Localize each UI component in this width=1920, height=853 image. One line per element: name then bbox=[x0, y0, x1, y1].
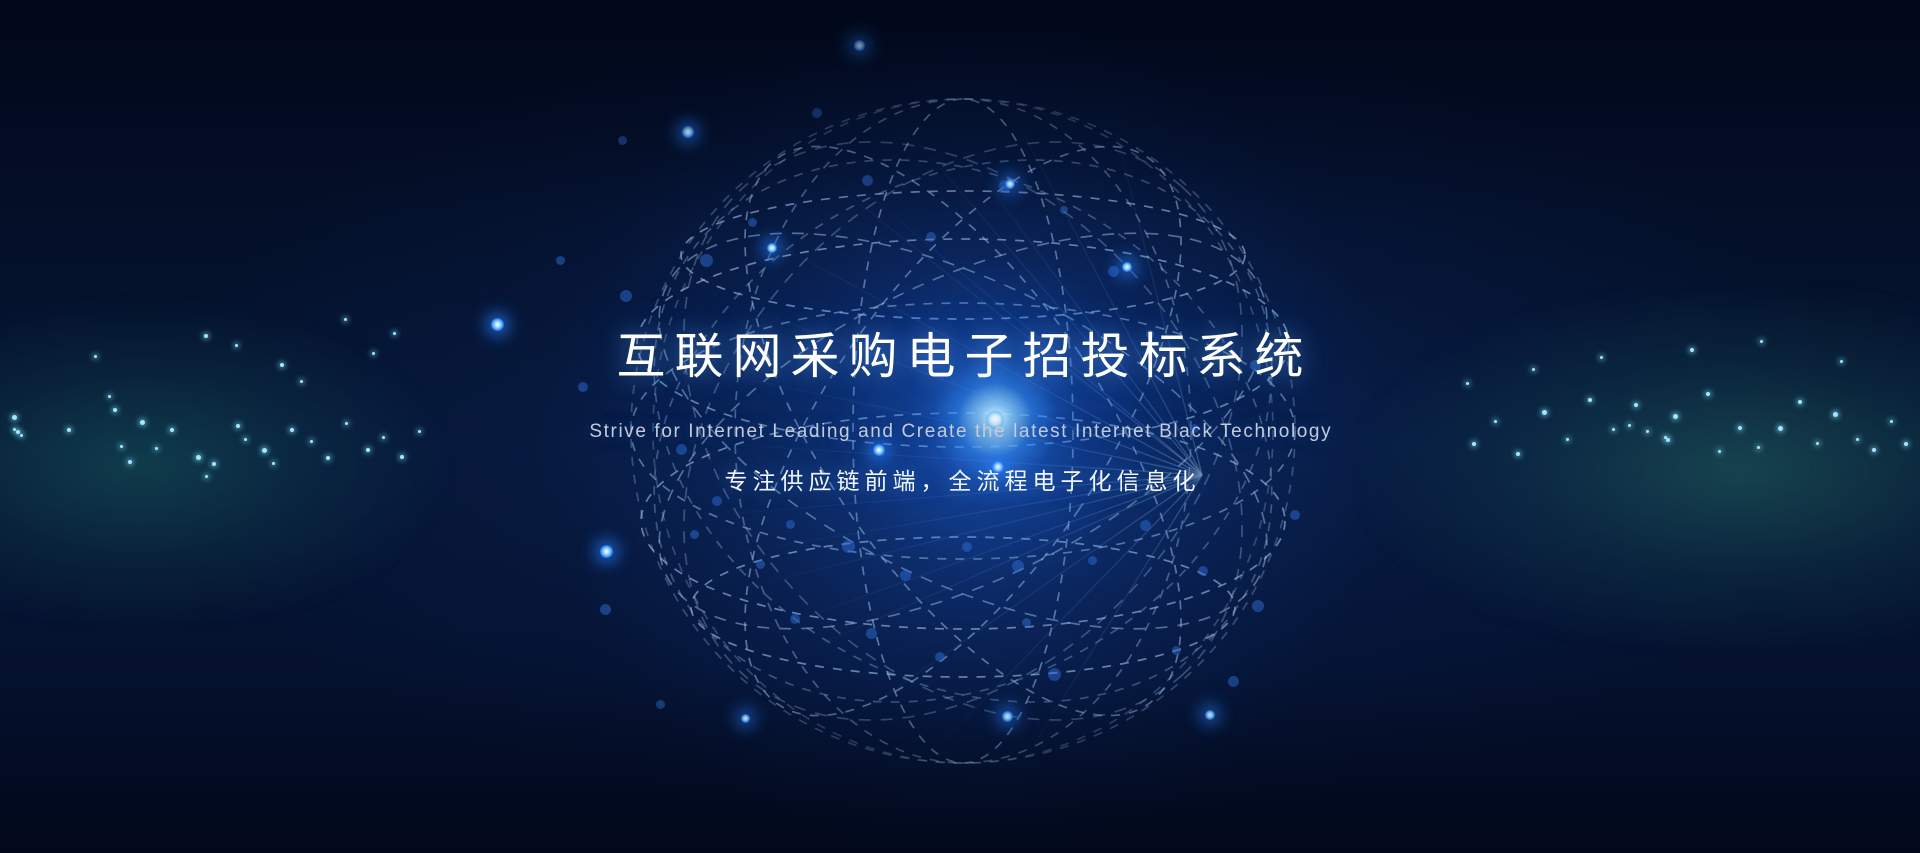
bottom-fade bbox=[0, 673, 1920, 853]
particle bbox=[344, 318, 347, 321]
subtitle-english: Strive for Internet Leading and Create t… bbox=[0, 419, 1920, 445]
subtitle-chinese: 专注供应链前端，全流程电子化信息化 bbox=[0, 466, 1920, 498]
hero-text-block: 互联网采购电子招投标系统 Strive for Internet Leading… bbox=[0, 322, 1920, 498]
page-title: 互联网采购电子招投标系统 bbox=[0, 322, 1920, 392]
hero-banner: 互联网采购电子招投标系统 Strive for Internet Leading… bbox=[0, 0, 1920, 853]
top-fade bbox=[0, 0, 1920, 220]
